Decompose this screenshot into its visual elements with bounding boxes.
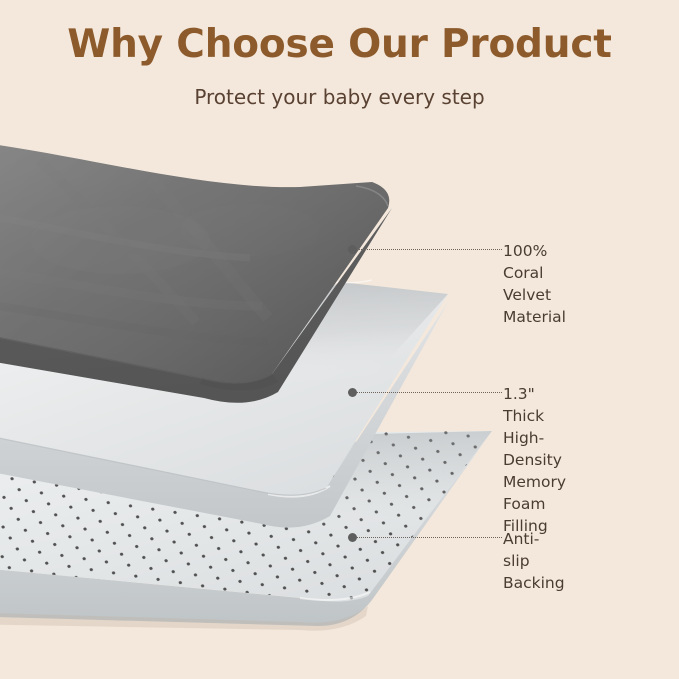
callout-dot-icon (348, 533, 357, 542)
page-subtitle: Protect your baby every step (0, 67, 679, 109)
product-infographic: Why Choose Our Product Protect your baby… (0, 0, 679, 679)
header: Why Choose Our Product Protect your baby… (0, 0, 679, 109)
callout-dot-icon (348, 388, 357, 397)
callout-label: 1.3" Thick High-Density Memory Foam Fill… (503, 383, 566, 537)
callout-label: Anti-slip Backing (503, 528, 565, 594)
callout-leader-line (357, 537, 502, 538)
callout-leader-line (357, 249, 502, 250)
page-title: Why Choose Our Product (0, 0, 679, 67)
callout-leader-line (357, 392, 502, 393)
callout-dot-icon (348, 245, 357, 254)
callout-label: 100% Coral Velvet Material (503, 240, 566, 328)
